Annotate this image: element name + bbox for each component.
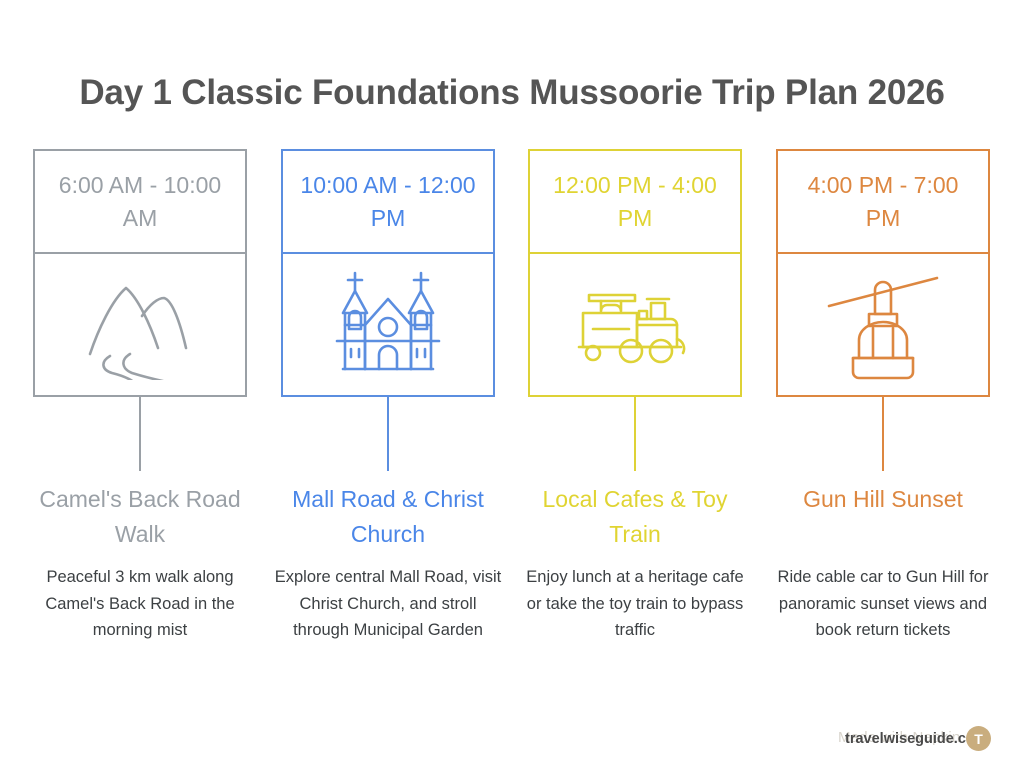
activity-title-1: Camel's Back Road Walk <box>21 482 259 552</box>
timeline-card-3[interactable]: 12:00 PM - 4:00 PM <box>528 149 742 397</box>
cable-car-icon <box>778 254 988 395</box>
time-block-3: 12:00 PM - 4:00 PM <box>530 151 740 254</box>
timeline-column-2: 10:00 AM - 12:00 PM <box>281 149 495 397</box>
activity-description-1: Peaceful 3 km walk along Camel's Back Ro… <box>25 564 255 644</box>
page-title: Day 1 Classic Foundations Mussoorie Trip… <box>0 70 1024 116</box>
time-label-3: 12:00 PM - 4:00 PM <box>542 169 728 235</box>
timeline-column-4: 4:00 PM - 7:00 PM <box>776 149 990 397</box>
time-label-1: 6:00 AM - 10:00 AM <box>47 169 233 235</box>
timeline-card-1[interactable]: 6:00 AM - 10:00 AM <box>33 149 247 397</box>
activity-description-3: Enjoy lunch at a heritage cafe or take t… <box>520 564 750 644</box>
activity-description-4: Ride cable car to Gun Hill for panoramic… <box>768 564 998 644</box>
mountain-road-icon <box>35 254 245 395</box>
time-label-4: 4:00 PM - 7:00 PM <box>790 169 976 235</box>
activity-title-4: Gun Hill Sunset <box>764 482 1002 517</box>
timeline-column-1: 6:00 AM - 10:00 AM Camel's Back Road Wal… <box>33 149 247 397</box>
timeline-column-3: 12:00 PM - 4:00 PM <box>528 149 742 397</box>
church-icon <box>283 254 493 395</box>
time-block-4: 4:00 PM - 7:00 PM <box>778 151 988 254</box>
activity-title-2: Mall Road & Christ Church <box>269 482 507 552</box>
time-label-2: 10:00 AM - 12:00 PM <box>295 169 481 235</box>
toy-train-icon <box>530 254 740 395</box>
infographic-canvas: Day 1 Classic Foundations Mussoorie Trip… <box>0 0 1024 775</box>
activity-title-3: Local Cafes & Toy Train <box>516 482 754 552</box>
site-badge-icon: T <box>966 726 991 751</box>
connector-line-4 <box>882 397 884 471</box>
timeline-card-2[interactable]: 10:00 AM - 12:00 PM <box>281 149 495 397</box>
connector-line-1 <box>139 397 141 471</box>
timeline-columns: 6:00 AM - 10:00 AM Camel's Back Road Wal… <box>0 149 1024 769</box>
connector-line-3 <box>634 397 636 471</box>
time-block-2: 10:00 AM - 12:00 PM <box>283 151 493 254</box>
time-block-1: 6:00 AM - 10:00 AM <box>35 151 245 254</box>
timeline-card-4[interactable]: 4:00 PM - 7:00 PM <box>776 149 990 397</box>
connector-line-2 <box>387 397 389 471</box>
activity-description-2: Explore central Mall Road, visit Christ … <box>273 564 503 644</box>
